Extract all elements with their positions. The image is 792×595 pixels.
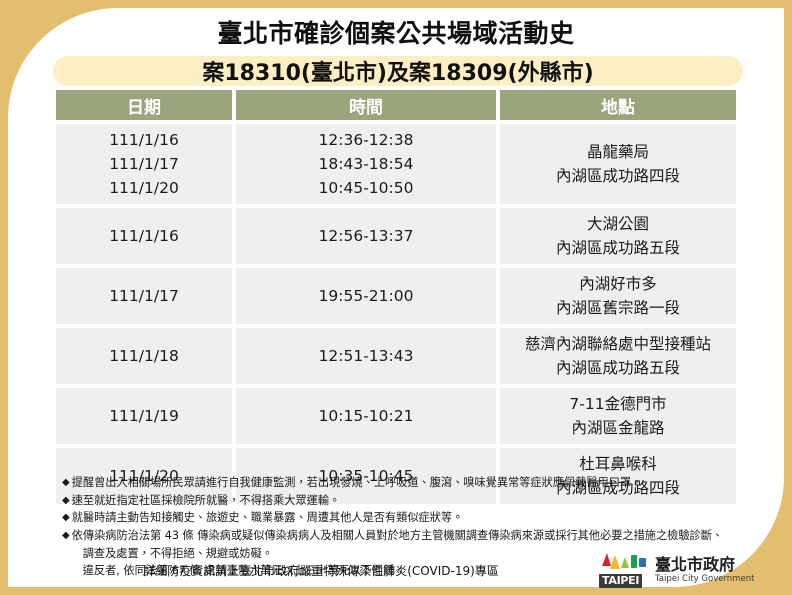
footnote-text: 速至就近指定社區採檢院所就醫，不得搭乘大眾運輸。: [72, 492, 752, 510]
footnote-body: 提醒曾出入相關場所民眾請進行自我健康監測，若出現發燒、上呼吸道、腹瀉、嗅味覺異常…: [72, 474, 752, 492]
footnote-body: 速至就近指定社區採檢院所就醫，不得搭乘大眾運輸。: [72, 492, 752, 510]
cell-date: 111/1/16: [56, 208, 232, 264]
diamond-bullet-icon: ◆: [62, 527, 70, 544]
footnote-item: ◆速至就近指定社區採檢院所就醫，不得搭乘大眾運輸。: [62, 492, 752, 510]
page-title: 臺北市確診個案公共場域活動史: [0, 14, 792, 50]
cell-date: 111/1/18: [56, 328, 232, 384]
footnote-item: ◆提醒曾出入相關場所民眾請進行自我健康監測，若出現發燒、上呼吸道、腹瀉、嗅味覺異…: [62, 474, 752, 492]
cell-date-text: 111/1/17: [103, 280, 185, 312]
column-header-date: 日期: [56, 90, 232, 120]
activity-table: 日期 時間 地點 111/1/16111/1/17111/1/2012:36-1…: [56, 90, 736, 508]
table-row: 111/1/1612:56-13:37大湖公園內湖區成功路五段: [56, 208, 736, 264]
column-header-time: 時間: [236, 90, 496, 120]
cell-date-text: 111/1/19: [103, 400, 185, 432]
footnote-text: 依傳染病防治法第 43 條 傳染病或疑似傳染病病人及相關人員對於地方主管機關調查…: [72, 527, 752, 545]
logo-text: 臺北市政府 Taipei City Government: [655, 556, 754, 585]
cell-place: 慈濟內湖聯絡處中型接種站內湖區成功路五段: [500, 328, 736, 384]
cell-date-text: 111/1/16111/1/17111/1/20: [103, 124, 185, 204]
logo-name-cn: 臺北市政府: [655, 556, 754, 574]
footer-info-line: 詳細防疫資訊請上臺北市政府嚴重特殊傳染性肺炎(COVID-19)專區: [86, 562, 556, 579]
logo-wordmark: TAIPEI: [599, 574, 642, 588]
table-row: 111/1/1812:51-13:43慈濟內湖聯絡處中型接種站內湖區成功路五段: [56, 328, 736, 384]
cell-date: 111/1/16111/1/17111/1/20: [56, 124, 232, 204]
subtitle-banner: 案18310(臺北市)及案18309(外縣市): [53, 56, 743, 86]
footnote-text: 就醫時請主動告知接觸史、旅遊史、職業暴露、周遭其他人是否有類似症狀等。: [72, 509, 752, 527]
logo-emblem-icon: [600, 552, 648, 573]
cell-place: 晶龍藥局內湖區成功路四段: [500, 124, 736, 204]
footnote-text: 提醒曾出入相關場所民眾請進行自我健康監測，若出現發燒、上呼吸道、腹瀉、嗅味覺異常…: [72, 474, 752, 492]
cell-place-text: 7-11金德門市內湖區金龍路: [563, 388, 672, 444]
table-header-row: 日期 時間 地點: [56, 90, 736, 120]
cell-time: 10:15-10:21: [236, 388, 496, 444]
cell-time-text: 12:36-12:3818:43-18:5410:45-10:50: [313, 124, 420, 204]
cell-date: 111/1/19: [56, 388, 232, 444]
diamond-bullet-icon: ◆: [62, 509, 70, 526]
poster-root: 臺北市確診個案公共場域活動史 案18310(臺北市)及案18309(外縣市) 日…: [0, 0, 792, 595]
table-row: 111/1/16111/1/17111/1/2012:36-12:3818:43…: [56, 124, 736, 204]
cell-time: 12:56-13:37: [236, 208, 496, 264]
cell-place: 大湖公園內湖區成功路五段: [500, 208, 736, 264]
table-row: 111/1/1910:15-10:217-11金德門市內湖區金龍路: [56, 388, 736, 444]
column-header-place: 地點: [500, 90, 736, 120]
subtitle-text: 案18310(臺北市)及案18309(外縣市): [202, 55, 593, 87]
footnote-item: ◆就醫時請主動告知接觸史、旅遊史、職業暴露、周遭其他人是否有類似症狀等。: [62, 509, 752, 527]
cell-date-text: 111/1/16: [103, 220, 185, 252]
cell-date: 111/1/17: [56, 268, 232, 324]
logo-mark: TAIPEI: [598, 552, 650, 588]
cell-place: 7-11金德門市內湖區金龍路: [500, 388, 736, 444]
diamond-bullet-icon: ◆: [62, 492, 70, 509]
cell-place: 內湖好市多內湖區舊宗路一段: [500, 268, 736, 324]
logo-name-en: Taipei City Government: [655, 574, 754, 584]
cell-place-text: 慈濟內湖聯絡處中型接種站內湖區成功路五段: [519, 328, 717, 384]
cell-time: 19:55-21:00: [236, 268, 496, 324]
footnote-body: 就醫時請主動告知接觸史、旅遊史、職業暴露、周遭其他人是否有類似症狀等。: [72, 509, 752, 527]
cell-time-text: 10:15-10:21: [313, 400, 420, 432]
taipei-city-government-logo: TAIPEI 臺北市政府 Taipei City Government: [598, 551, 758, 589]
cell-place-text: 內湖好市多內湖區舊宗路一段: [550, 268, 686, 324]
cell-time-text: 19:55-21:00: [313, 280, 420, 312]
cell-time-text: 12:56-13:37: [313, 220, 420, 252]
cell-time: 12:51-13:43: [236, 328, 496, 384]
cell-time-text: 12:51-13:43: [313, 340, 420, 372]
cell-date-text: 111/1/18: [103, 340, 185, 372]
table-body: 111/1/16111/1/17111/1/2012:36-12:3818:43…: [56, 124, 736, 504]
table-row: 111/1/1719:55-21:00內湖好市多內湖區舊宗路一段: [56, 268, 736, 324]
cell-time: 12:36-12:3818:43-18:5410:45-10:50: [236, 124, 496, 204]
diamond-bullet-icon: ◆: [62, 474, 70, 491]
cell-place-text: 晶龍藥局內湖區成功路四段: [550, 136, 686, 192]
cell-place-text: 大湖公園內湖區成功路五段: [550, 208, 686, 264]
